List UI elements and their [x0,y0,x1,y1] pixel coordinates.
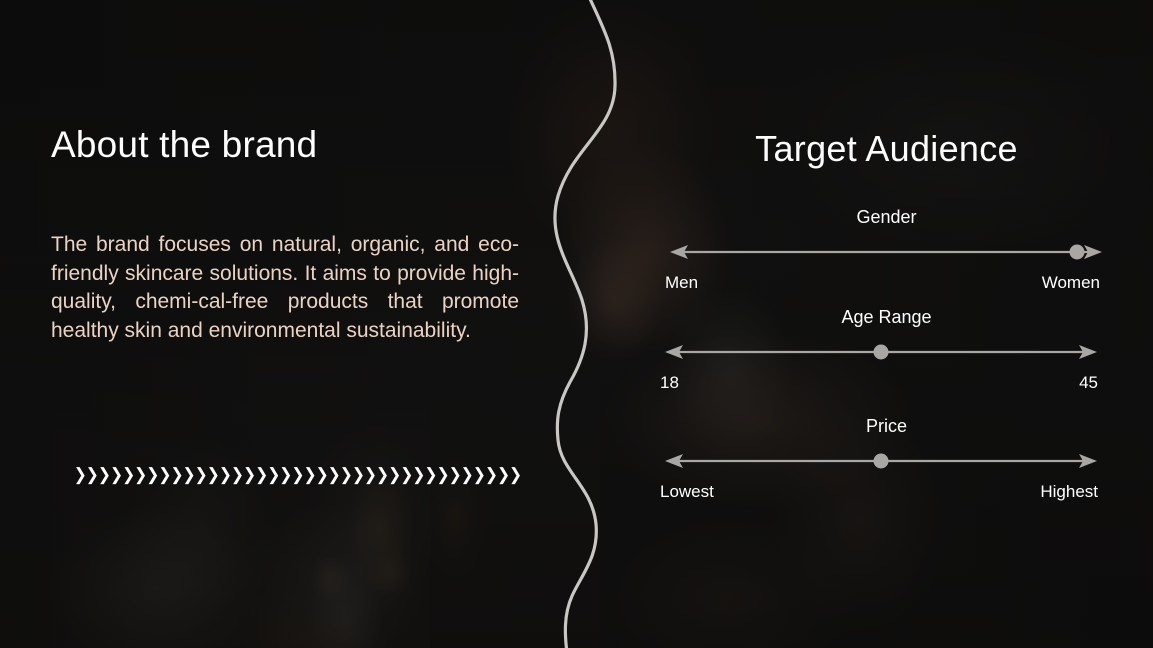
chevron-divider: ❯❯❯❯❯❯❯❯❯❯❯❯❯❯❯❯❯❯❯❯❯❯❯❯❯❯❯❯❯❯❯❯❯❯❯❯❯❯❯❯… [49,462,523,488]
slider-price-left-label: Lowest [660,480,714,504]
slider-age-range-left-label: 18 [660,371,679,395]
slider-price-handle[interactable] [874,454,889,469]
slider-price-right-label: Highest [1040,480,1098,504]
slider-gender-handle[interactable] [1070,245,1085,260]
slide-canvas: About the brand The brand focuses on nat… [0,0,1153,648]
slider-gender-track[interactable] [620,235,1153,269]
target-audience-panel: Target Audience Gender Men Women Age Ran… [620,0,1153,648]
page-title: About the brand [51,124,317,166]
slider-gender[interactable]: Gender Men Women [620,205,1153,295]
slider-gender-left-label: Men [665,271,698,295]
slider-age-range-title: Age Range [620,305,1153,329]
slider-age-range-handle[interactable] [874,345,889,360]
slider-gender-endpoints: Men Women [620,271,1153,295]
slider-price-track[interactable] [620,444,1153,478]
slider-age-range-right-label: 45 [1079,371,1098,395]
slider-age-range[interactable]: Age Range 18 45 [620,305,1153,395]
target-audience-title: Target Audience [620,128,1153,170]
slider-gender-title: Gender [620,205,1153,229]
slider-price-endpoints: Lowest Highest [620,480,1153,504]
brand-description-text: The brand focuses on natural, organic, a… [51,231,519,345]
slider-price-title: Price [620,414,1153,438]
chevron-divider-glyphs: ❯❯❯❯❯❯❯❯❯❯❯❯❯❯❯❯❯❯❯❯❯❯❯❯❯❯❯❯❯❯❯❯❯❯❯❯❯❯❯❯… [74,462,523,488]
slider-price[interactable]: Price Lowest Highest [620,414,1153,504]
slider-gender-right-label: Women [1042,271,1100,295]
about-brand-panel: About the brand The brand focuses on nat… [51,0,521,648]
slider-age-range-endpoints: 18 45 [620,371,1153,395]
slider-age-range-track[interactable] [620,335,1153,369]
